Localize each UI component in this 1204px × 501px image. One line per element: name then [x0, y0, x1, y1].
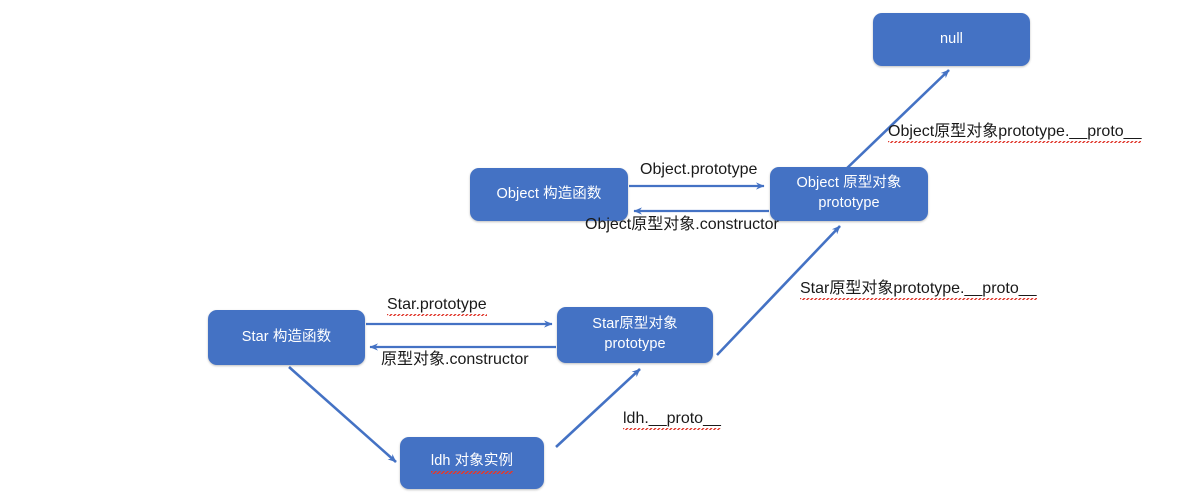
edge-object-proto-to-null: [843, 70, 949, 172]
edge-label-object-prototype: Object.prototype: [640, 161, 757, 179]
node-object-constructor-label: Object 构造函数: [496, 185, 601, 205]
node-null[interactable]: null: [873, 13, 1030, 66]
node-star-prototype-label-line2: prototype: [604, 335, 665, 355]
diagram-edges: [0, 0, 1204, 501]
node-star-prototype-label-line1: Star原型对象: [592, 315, 677, 335]
edge-ldh-to-star-proto: [556, 369, 640, 447]
node-ldh-instance[interactable]: ldh 对象实例: [400, 437, 544, 489]
node-object-prototype[interactable]: Object 原型对象 prototype: [770, 167, 928, 221]
edge-star-ctor-to-ldh: [289, 367, 396, 462]
node-null-label: null: [940, 30, 963, 50]
node-star-constructor-label: Star 构造函数: [242, 328, 332, 348]
node-object-prototype-label-line1: Object 原型对象: [796, 174, 901, 194]
edge-label-object-proto-constructor: Object原型对象.constructor: [585, 216, 779, 234]
node-object-constructor[interactable]: Object 构造函数: [470, 168, 628, 221]
edge-label-object-proto-dunder: Object原型对象prototype.__proto__: [888, 123, 1141, 143]
node-star-prototype[interactable]: Star原型对象 prototype: [557, 307, 713, 363]
edge-label-star-prototype: Star.prototype: [387, 296, 487, 316]
edge-label-star-proto-constructor: 原型对象.constructor: [381, 351, 529, 369]
node-star-constructor[interactable]: Star 构造函数: [208, 310, 365, 365]
diagram-canvas: null Object 构造函数 Object 原型对象 prototype S…: [0, 0, 1204, 501]
edge-label-star-proto-dunder: Star原型对象prototype.__proto__: [800, 280, 1037, 300]
node-ldh-instance-label: ldh 对象实例: [431, 452, 513, 474]
edge-label-ldh-dunder: ldh.__proto__: [623, 410, 721, 430]
node-object-prototype-label-line2: prototype: [818, 194, 879, 214]
